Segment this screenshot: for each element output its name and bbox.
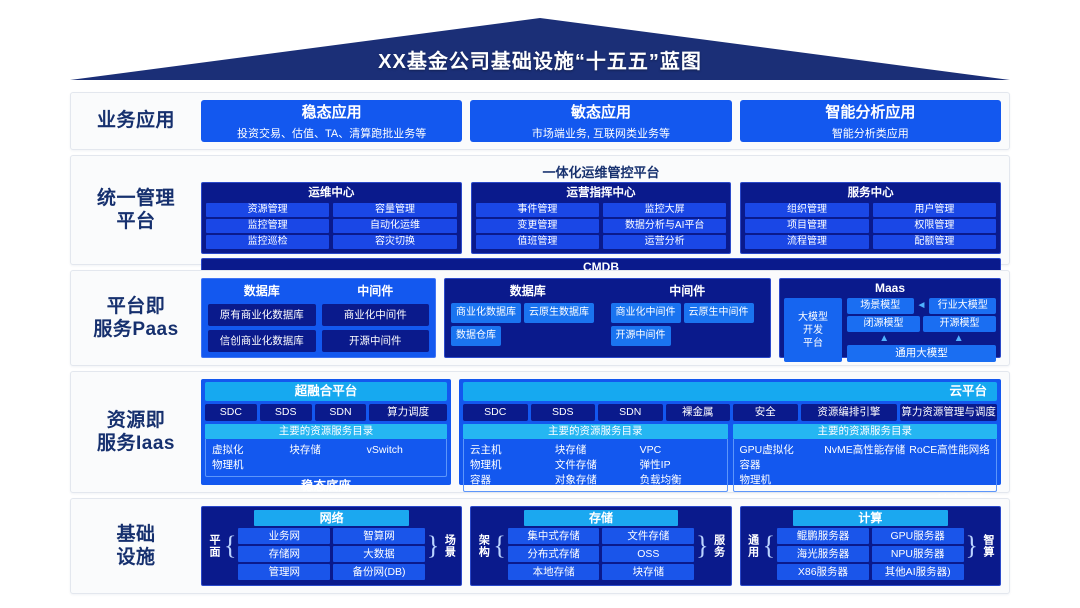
catalog-item: VPC <box>640 443 721 457</box>
paas-block-title: 数据库 <box>208 283 316 300</box>
row-label-iaas: 资源即 服务Iaas <box>71 372 201 492</box>
infra-cell[interactable]: 大数据 <box>333 546 425 562</box>
row-body-paas: 数据库 原有商业化数据库 信创商业化数据库 中间件 商业化中间件 开源中间件 数… <box>201 271 1009 365</box>
maas-chip-industry-model[interactable]: 行业大模型 <box>929 298 996 314</box>
capability-chip[interactable]: 资源编排引擎 <box>801 404 898 421</box>
center-cell[interactable]: 监控巡检 <box>206 235 329 249</box>
catalog-item: 文件存储 <box>555 458 636 472</box>
resource-catalog-general: 主要的资源服务目录 云主机 物理机 容器 块存储 文件存储 <box>463 424 728 492</box>
catalog-item: vSwitch <box>367 443 440 457</box>
paas-block-title: 中间件 <box>322 283 430 300</box>
center-cell[interactable]: 用户管理 <box>873 203 996 217</box>
catalog-column: 块存储 文件存储 对象存储 <box>555 443 636 487</box>
left-brace-icon: { <box>224 510 236 582</box>
maas-dev-line3: 平台 <box>803 337 823 350</box>
infra-cell-grid: 鲲鹏服务器 GPU服务器 海光服务器 NPU服务器 X86服务器 其他AI服务器… <box>777 528 963 580</box>
management-centers: 运维中心 资源管理 容量管理 监控管理 自动化运维 监控巡检 容灾切换 运营指挥… <box>201 182 1001 254</box>
paas-chip[interactable]: 云原生中间件 <box>684 303 754 323</box>
unified-platform-wrapper: 一体化运维管控平台 运维中心 资源管理 容量管理 监控管理 自动化运维 监控巡检… <box>201 163 1001 257</box>
paas-chip[interactable]: 开源中间件 <box>322 330 430 352</box>
up-arrow-icon: ▲ <box>879 334 889 344</box>
right-brace-icon: } <box>696 510 708 582</box>
infra-cell[interactable]: 业务网 <box>238 528 330 544</box>
paas-chip[interactable]: 商业化中间件 <box>611 303 681 323</box>
infra-cell[interactable]: 管理网 <box>238 564 330 580</box>
infra-left-label-text: 平面 <box>208 534 220 558</box>
center-cell[interactable]: 组织管理 <box>745 203 868 217</box>
catalog-item: 弹性IP <box>640 458 721 472</box>
center-title: 服务中心 <box>745 186 996 201</box>
architecture-blueprint: XX基金公司基础设施“十五五”蓝图 业务应用 稳态应用 投资交易、估值、TA、清… <box>0 0 1080 608</box>
center-cell[interactable]: 事件管理 <box>476 203 599 217</box>
page-title: XX基金公司基础设施“十五五”蓝图 <box>70 45 1010 74</box>
capability-chip[interactable]: 安全 <box>733 404 798 421</box>
infra-cell[interactable]: 存储网 <box>238 546 330 562</box>
iaas-hyperconverged-platform: 超融合平台 SDC SDS SDN 算力调度 主要的资源服务目录 虚拟化 <box>201 379 451 485</box>
maas-chip-general-model[interactable]: 通用大模型 <box>847 345 996 362</box>
capability-chip[interactable]: SDN <box>598 404 663 421</box>
catalog-item: 容器 <box>470 473 551 487</box>
center-cell[interactable]: 容量管理 <box>333 203 456 217</box>
center-cell[interactable]: 容灾切换 <box>333 235 456 249</box>
infra-left-label-text: 架构 <box>477 534 489 558</box>
infra-panel-body: 网络 业务网 智算网 存储网 大数据 管理网 备份网(DB) <box>238 510 424 582</box>
infra-panel-title: 存储 <box>524 510 678 526</box>
cloud-platform-title: 云平台 <box>463 382 997 401</box>
catalog-item: 容器 <box>740 458 821 472</box>
left-arrow-icon: ◄ <box>917 301 927 311</box>
infra-panel-compute: 通用 { 计算 鲲鹏服务器 GPU服务器 海光服务器 NPU服务器 X86服务器… <box>740 506 1001 586</box>
infra-cell[interactable]: 备份网(DB) <box>333 564 425 580</box>
app-card-title: 智能分析应用 <box>825 101 915 122</box>
infra-cell[interactable]: 集中式存储 <box>508 528 600 544</box>
row-label-line1: 平台即 <box>93 295 178 318</box>
row-unified-management: 统一管理 平台 一体化运维管控平台 运维中心 资源管理 容量管理 监控管理 自动… <box>70 155 1010 265</box>
infra-right-label: 服务 <box>711 510 727 582</box>
catalog-item: 物理机 <box>740 473 821 487</box>
infra-right-label: 智算 <box>980 510 996 582</box>
app-card-subtitle: 投资交易、估值、TA、清算跑批业务等 <box>237 125 426 141</box>
infra-left-label-text: 通用 <box>747 534 759 558</box>
infra-cell[interactable]: 本地存储 <box>508 564 600 580</box>
unified-platform-title: 一体化运维管控平台 <box>201 165 1001 180</box>
center-cells: 资源管理 容量管理 监控管理 自动化运维 监控巡检 容灾切换 <box>206 203 457 249</box>
center-ops[interactable]: 运维中心 资源管理 容量管理 监控管理 自动化运维 监控巡检 容灾切换 <box>201 182 462 254</box>
paas-block-title: 数据库 <box>451 283 605 300</box>
roof-banner: XX基金公司基础设施“十五五”蓝图 <box>70 18 1010 80</box>
paas-chip[interactable]: 数据仓库 <box>451 326 501 346</box>
center-cell[interactable]: 值班管理 <box>476 235 599 249</box>
center-cell[interactable]: 权限管理 <box>873 219 996 233</box>
infra-cell[interactable]: 分布式存储 <box>508 546 600 562</box>
row-paas: 平台即 服务Paas 数据库 原有商业化数据库 信创商业化数据库 中间件 商业化… <box>70 270 1010 366</box>
maas-dev-line1: 大模型 <box>798 311 828 324</box>
center-cells: 组织管理 用户管理 项目管理 权限管理 流程管理 配额管理 <box>745 203 996 249</box>
infra-right-label: 场景 <box>441 510 457 582</box>
row-label-line1: 基础 <box>116 523 155 546</box>
row-label-paas: 平台即 服务Paas <box>71 271 201 365</box>
infra-left-label: 通用 <box>745 510 761 582</box>
center-cell[interactable]: 数据分析与AI平台 <box>603 219 726 233</box>
resource-catalog-ai: 主要的资源服务目录 GPU虚拟化 容器 物理机 NvME高性能存储 <box>733 424 998 492</box>
infra-right-label-text: 场景 <box>443 534 455 558</box>
catalog-item: 负载均衡 <box>640 473 721 487</box>
catalog-column: 虚拟化 物理机 <box>212 443 285 472</box>
row-body-iaas: 超融合平台 SDC SDS SDN 算力调度 主要的资源服务目录 虚拟化 <box>201 372 1009 492</box>
center-cell[interactable]: 流程管理 <box>745 235 868 249</box>
paas-middleware-cloudnative: 中间件 商业化中间件 云原生中间件 开源中间件 <box>611 283 765 353</box>
row-body-unified-management: 一体化运维管控平台 运维中心 资源管理 容量管理 监控管理 自动化运维 监控巡检… <box>201 156 1009 264</box>
infra-right-label-text: 智算 <box>982 534 994 558</box>
hyperconverged-panes: 主要的资源服务目录 虚拟化 物理机 块存储 vSwitc <box>205 424 447 477</box>
paas-groups: 数据库 原有商业化数据库 信创商业化数据库 中间件 商业化中间件 开源中间件 数… <box>201 278 1001 358</box>
up-arrow-icon: ▲ <box>954 334 964 344</box>
paas-database-cloudnative: 数据库 商业化数据库 云原生数据库 数据仓库 <box>451 283 605 353</box>
stable-base-label: 稳态底座 <box>205 477 447 496</box>
right-brace-icon: } <box>966 510 978 582</box>
infra-cell[interactable]: 块存储 <box>602 564 694 580</box>
catalog-column: 云主机 物理机 容器 <box>470 443 551 487</box>
paas-block-title: 中间件 <box>611 283 765 300</box>
row-body-business-applications: 稳态应用 投资交易、估值、TA、清算跑批业务等 敏态应用 市场端业务, 互联网类… <box>201 93 1009 149</box>
maas-row-scenario: 场景模型 ◄ 行业大模型 <box>847 298 996 314</box>
catalog-item: 块存储 <box>289 443 362 457</box>
paas-chip[interactable]: 信创商业化数据库 <box>208 330 316 352</box>
catalog-title: 主要的资源服务目录 <box>205 424 447 439</box>
infra-panel-body: 计算 鲲鹏服务器 GPU服务器 海光服务器 NPU服务器 X86服务器 其他AI… <box>777 510 963 582</box>
paas-chip[interactable]: 商业化数据库 <box>451 303 521 323</box>
center-service[interactable]: 服务中心 组织管理 用户管理 项目管理 权限管理 流程管理 配额管理 <box>740 182 1001 254</box>
catalog-title: 主要的资源服务目录 <box>463 424 728 439</box>
capability-chip[interactable]: SDN <box>315 404 367 421</box>
infrastructure-panels: 平面 { 网络 业务网 智算网 存储网 大数据 管理网 备份网(DB) <box>201 506 1001 586</box>
infra-cell[interactable]: NPU服务器 <box>872 546 964 562</box>
row-body-infrastructure: 平面 { 网络 业务网 智算网 存储网 大数据 管理网 备份网(DB) <box>201 499 1009 593</box>
iaas-platforms: 超融合平台 SDC SDS SDN 算力调度 主要的资源服务目录 虚拟化 <box>201 379 1001 485</box>
maas-row-source: 闭源模型 开源模型 <box>847 316 996 332</box>
center-cell[interactable]: 监控管理 <box>206 219 329 233</box>
row-label-line2: 平台 <box>97 210 175 233</box>
catalog-item: RoCE高性能网络 <box>909 443 990 457</box>
catalog-item: 物理机 <box>470 458 551 472</box>
paas-chip[interactable]: 商业化中间件 <box>322 304 430 326</box>
catalog-item: 虚拟化 <box>212 443 285 457</box>
catalog-item: 物理机 <box>212 458 285 472</box>
paas-group-maas: Maas 大模型 开发 平台 场景模型 ◄ 行业大模型 <box>779 278 1001 358</box>
capability-chip[interactable]: 裸金属 <box>666 404 731 421</box>
capability-chip[interactable]: SDC <box>205 404 257 421</box>
capability-chip[interactable]: 算力资源管理与调度 <box>900 404 997 421</box>
catalog-item: NvME高性能存储 <box>824 443 905 457</box>
maas-chip-open-source[interactable]: 开源模型 <box>923 316 996 332</box>
paas-middleware-traditional: 中间件 商业化中间件 开源中间件 <box>322 283 430 353</box>
infra-panel-title: 网络 <box>254 510 408 526</box>
resource-catalog-stable: 主要的资源服务目录 虚拟化 物理机 块存储 vSwitc <box>205 424 447 477</box>
infra-panel-title: 计算 <box>793 510 947 526</box>
paas-chip[interactable]: 云原生数据库 <box>524 303 594 323</box>
infra-panel-storage: 架构 { 存储 集中式存储 文件存储 分布式存储 OSS 本地存储 块存储 <box>470 506 731 586</box>
center-cell[interactable]: 配额管理 <box>873 235 996 249</box>
app-card-analytics[interactable]: 智能分析应用 智能分析类应用 <box>740 100 1001 142</box>
paas-group-traditional: 数据库 原有商业化数据库 信创商业化数据库 中间件 商业化中间件 开源中间件 <box>201 278 436 358</box>
infra-cell[interactable]: 文件存储 <box>602 528 694 544</box>
catalog-item: GPU虚拟化 <box>740 443 821 457</box>
center-title: 运营指挥中心 <box>476 186 727 201</box>
row-iaas: 资源即 服务Iaas 超融合平台 SDC SDS SDN 算力调度 <box>70 371 1010 493</box>
right-brace-icon: } <box>427 510 439 582</box>
maas-body: 大模型 开发 平台 场景模型 ◄ 行业大模型 闭源模型 <box>784 298 996 362</box>
hyperconverged-capabilities: SDC SDS SDN 算力调度 <box>205 404 447 421</box>
infra-left-label: 平面 <box>206 510 222 582</box>
infra-left-label: 架构 <box>475 510 491 582</box>
maas-chip-closed-source[interactable]: 闭源模型 <box>847 316 920 332</box>
capability-chip[interactable]: SDS <box>260 404 312 421</box>
catalog-item: 对象存储 <box>555 473 636 487</box>
row-business-applications: 业务应用 稳态应用 投资交易、估值、TA、清算跑批业务等 敏态应用 市场端业务,… <box>70 92 1010 150</box>
infra-cell-grid: 集中式存储 文件存储 分布式存储 OSS 本地存储 块存储 <box>508 528 694 580</box>
cloud-platform-capabilities: SDC SDS SDN 裸金属 安全 资源编排引擎 算力资源管理与调度 <box>463 404 997 421</box>
center-cells: 事件管理 监控大屏 变更管理 数据分析与AI平台 值班管理 运营分析 <box>476 203 727 249</box>
infra-right-label-text: 服务 <box>713 534 725 558</box>
app-card-subtitle: 市场端业务, 互联网类业务等 <box>532 125 670 141</box>
center-operations-command[interactable]: 运营指挥中心 事件管理 监控大屏 变更管理 数据分析与AI平台 值班管理 运营分… <box>471 182 732 254</box>
infra-panel-network: 平面 { 网络 业务网 智算网 存储网 大数据 管理网 备份网(DB) <box>201 506 462 586</box>
maas-chip-scenario-model[interactable]: 场景模型 <box>847 298 914 314</box>
catalog-column: VPC 弹性IP 负载均衡 <box>640 443 721 487</box>
catalog-item: 块存储 <box>555 443 636 457</box>
center-cell[interactable]: 变更管理 <box>476 219 599 233</box>
catalog-item: 云主机 <box>470 443 551 457</box>
infra-cell-grid: 业务网 智算网 存储网 大数据 管理网 备份网(DB) <box>238 528 424 580</box>
catalog-body: GPU虚拟化 容器 物理机 NvME高性能存储 RoCE高性能网络 <box>733 439 998 492</box>
catalog-body: 虚拟化 物理机 块存储 vSwitch <box>205 439 447 477</box>
center-cell[interactable]: 项目管理 <box>745 219 868 233</box>
maas-model-stack: 场景模型 ◄ 行业大模型 闭源模型 开源模型 ▲ ▲ <box>847 298 996 362</box>
capability-chip[interactable]: SDS <box>531 404 596 421</box>
catalog-body: 云主机 物理机 容器 块存储 文件存储 对象存储 <box>463 439 728 492</box>
maas-title: Maas <box>784 281 996 296</box>
left-brace-icon: { <box>493 510 505 582</box>
center-cell[interactable]: 监控大屏 <box>603 203 726 217</box>
infra-cell[interactable]: 鲲鹏服务器 <box>777 528 869 544</box>
iaas-cloud-platform: 云平台 SDC SDS SDN 裸金属 安全 资源编排引擎 算力资源管理与调度 … <box>459 379 1001 485</box>
paas-chip-row: 商业化数据库 云原生数据库 数据仓库 <box>451 303 605 346</box>
center-title: 运维中心 <box>206 186 457 201</box>
paas-chip[interactable]: 原有商业化数据库 <box>208 304 316 326</box>
infra-cell[interactable]: OSS <box>602 546 694 562</box>
maas-dev-platform[interactable]: 大模型 开发 平台 <box>784 298 842 362</box>
catalog-column: GPU虚拟化 容器 物理机 <box>740 443 821 487</box>
row-label-line1: 资源即 <box>97 409 175 432</box>
catalog-column: RoCE高性能网络 <box>909 443 990 487</box>
row-label-unified-management: 统一管理 平台 <box>71 156 201 264</box>
cloud-platform-panes: 主要的资源服务目录 云主机 物理机 容器 块存储 文件存储 <box>463 424 997 492</box>
paas-chip-row: 商业化中间件 云原生中间件 开源中间件 <box>611 303 765 346</box>
infra-cell[interactable]: GPU服务器 <box>872 528 964 544</box>
catalog-column: vSwitch <box>367 443 440 472</box>
row-label-infrastructure: 基础 设施 <box>71 499 201 593</box>
app-card-agile[interactable]: 敏态应用 市场端业务, 互联网类业务等 <box>470 100 731 142</box>
app-card-subtitle: 智能分析类应用 <box>832 125 909 141</box>
center-cell[interactable]: 自动化运维 <box>333 219 456 233</box>
capability-chip[interactable]: SDC <box>463 404 528 421</box>
paas-chip[interactable]: 开源中间件 <box>611 326 671 346</box>
row-label-line1: 统一管理 <box>97 187 175 210</box>
catalog-column: NvME高性能存储 <box>824 443 905 487</box>
row-infrastructure: 基础 设施 平面 { 网络 业务网 智算网 存储网 大数据 管理 <box>70 498 1010 594</box>
app-card-stable[interactable]: 稳态应用 投资交易、估值、TA、清算跑批业务等 <box>201 100 462 142</box>
center-cell[interactable]: 资源管理 <box>206 203 329 217</box>
paas-database-traditional: 数据库 原有商业化数据库 信创商业化数据库 <box>208 283 316 353</box>
center-cell[interactable]: 运营分析 <box>603 235 726 249</box>
row-label-line2: 服务Iaas <box>97 432 175 455</box>
catalog-column: 块存储 <box>289 443 362 472</box>
infra-cell[interactable]: 海光服务器 <box>777 546 869 562</box>
hyperconverged-title: 超融合平台 <box>205 382 447 401</box>
catalog-title: 主要的资源服务目录 <box>733 424 998 439</box>
left-brace-icon: { <box>763 510 775 582</box>
maas-dev-line2: 开发 <box>803 324 823 337</box>
row-label-line2: 服务Paas <box>93 318 178 341</box>
infra-cell[interactable]: 其他AI服务器) <box>872 564 964 580</box>
row-label-line2: 设施 <box>116 546 155 569</box>
capability-chip[interactable]: 算力调度 <box>369 404 447 421</box>
maas-up-arrows: ▲ ▲ <box>847 334 996 343</box>
paas-group-cloudnative: 数据库 商业化数据库 云原生数据库 数据仓库 中间件 商业化中间件 云原生中间件… <box>444 278 771 358</box>
infra-cell[interactable]: X86服务器 <box>777 564 869 580</box>
app-card-title: 敏态应用 <box>571 101 631 122</box>
app-card-title: 稳态应用 <box>302 101 362 122</box>
row-label-business-applications: 业务应用 <box>71 93 201 149</box>
infra-cell[interactable]: 智算网 <box>333 528 425 544</box>
infra-panel-body: 存储 集中式存储 文件存储 分布式存储 OSS 本地存储 块存储 <box>508 510 694 582</box>
